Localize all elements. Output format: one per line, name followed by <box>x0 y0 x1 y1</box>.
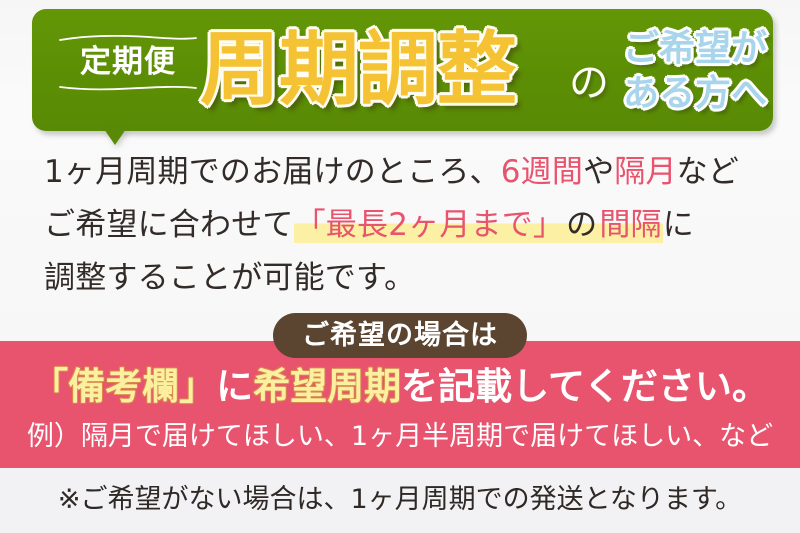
wave-line-bottom-icon <box>59 84 197 91</box>
pink-headline-part-d: を記載してください。 <box>401 365 769 408</box>
pink-headline-accent-remarks: 「備考欄」 <box>31 365 216 408</box>
body-line1-part-a: 1ヶ月周期でのお届けのところ、 <box>44 154 501 190</box>
body-line2-part-e: に <box>663 207 694 243</box>
body-line2-highlight-interval: 間隔 <box>598 207 662 243</box>
wave-line-top-icon <box>59 35 197 42</box>
header-side-note: ご希望が ある方へ <box>620 26 770 116</box>
body-line-3: 調整することが可能です。 <box>44 252 764 305</box>
pink-headline-part-b: に <box>216 365 253 408</box>
pink-headline-accent-cycle: 希望周期 <box>253 365 401 408</box>
header-side-note-line1: ご希望が <box>620 26 770 71</box>
request-case-pill-label: ご希望の場合は <box>302 322 498 349</box>
green-header-box: 定期便 周期調整 の ご希望が ある方へ <box>32 9 773 131</box>
green-header-content: 定期便 周期調整 の ご希望が ある方へ <box>32 9 773 131</box>
request-case-pill: ご希望の場合は <box>273 313 527 358</box>
body-line2-part-a: ご希望に合わせて <box>44 207 294 243</box>
body-line1-part-c: や <box>583 154 614 190</box>
body-line1-accent-bimonthly: 隔月 <box>614 154 676 190</box>
body-line2-highlight-maxterm: 「最長2ヶ月まで」 <box>294 207 566 243</box>
body-line-2: ご希望に合わせて「最長2ヶ月まで」の間隔に <box>44 199 764 252</box>
speech-bubble-tail <box>104 129 126 145</box>
body-line1-part-e: など <box>677 154 739 190</box>
subscription-badge-label: 定期便 <box>54 47 202 78</box>
body-line-1: 1ヶ月周期でのお届けのところ、6週間や隔月など <box>44 146 764 199</box>
pink-example-text: 例）隔月で届けてほしい、1ヶ月半周期で届けてほしい、など <box>0 418 800 456</box>
pink-headline: 「備考欄」に希望周期を記載してください。 <box>0 363 800 411</box>
body-line2-part-c: の <box>565 207 598 243</box>
promo-banner: 定期便 周期調整 の ご希望が ある方へ 1ヶ月周期でのお届けのところ、6週間や… <box>0 0 800 533</box>
header-side-note-line2: ある方へ <box>620 71 770 116</box>
body-paragraph: 1ヶ月周期でのお届けのところ、6週間や隔月など ご希望に合わせて「最長2ヶ月まで… <box>44 146 764 305</box>
header-title-particle: の <box>569 61 609 105</box>
body-line1-accent-weeks: 6週間 <box>501 154 583 190</box>
subscription-badge: 定期便 <box>54 35 202 91</box>
footnote-text: ※ご希望がない場合は、1ヶ月周期での発送となります。 <box>0 480 800 520</box>
header-title: 周期調整 <box>200 21 516 119</box>
